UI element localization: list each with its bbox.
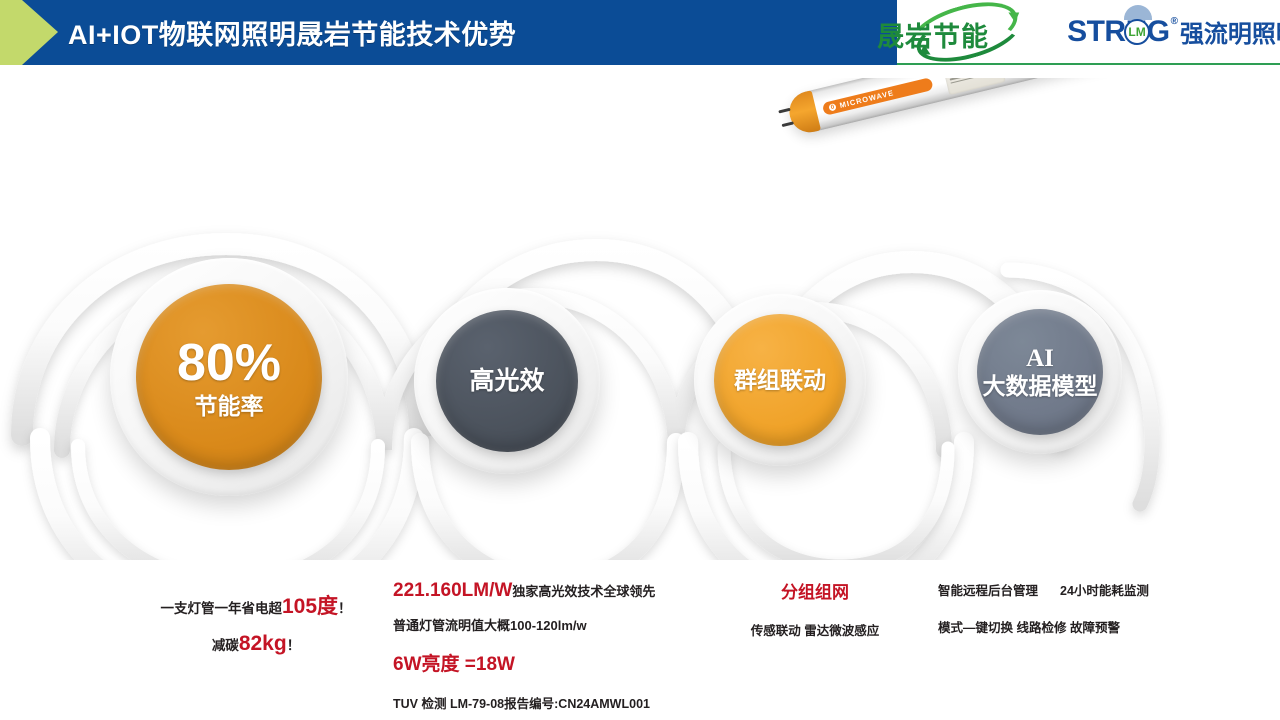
caption-text: 24小时能耗监测 — [1060, 584, 1149, 598]
caption-text: ！ — [287, 638, 301, 653]
sensor-dot-icon: 0 — [828, 103, 836, 111]
node-disc: 80% 节能率 — [136, 284, 322, 470]
microwave-sensor-band: 0 MICROWAVE — [822, 78, 934, 116]
fan-icon — [1124, 5, 1152, 20]
caption-emphasis: 221.160LM/W — [393, 580, 512, 601]
lm-badge-icon: LM — [1124, 19, 1150, 45]
spec-sticker — [942, 78, 1006, 95]
caption-emphasis: 105度 — [282, 595, 338, 618]
caption-emphasis: 6W亮度 =18W — [393, 649, 723, 676]
tube-pin-icon — [782, 121, 794, 127]
brand-wordmark: STRNG — [1067, 15, 1170, 49]
registered-mark: ® — [1171, 16, 1178, 27]
node-label: 群组联动 — [734, 368, 826, 394]
caption-text: 独家高光效技术全球领先 — [512, 584, 655, 599]
caption-line: 减碳82kg！ — [106, 632, 406, 656]
caption-text: ！ — [338, 601, 352, 616]
feature-node-ai-big-data[interactable]: AI 大数据模型 — [958, 290, 1122, 454]
caption-ai-big-data: 智能远程后台管理24小时能耗监测 模式—键切换 线路检修 故障预警 — [938, 580, 1208, 636]
caption-line: TUV 检测 LM-79-08报告编号:CN24AMWL001 — [393, 693, 723, 712]
caption-line: 传感联动 雷达微波感应 — [700, 620, 930, 639]
tube-pin-icon — [778, 108, 790, 114]
led-tube-end-cap — [785, 90, 821, 136]
company-cn-mark: 晟岩节能 — [877, 8, 1059, 56]
node-label-primary: AI — [1026, 345, 1054, 373]
caption-group-linkage: 分组组网 传感联动 雷达微波感应 — [700, 578, 930, 639]
caption-line: 普通灯管流明值大概100-120lm/w — [393, 615, 723, 634]
caption-text: 减碳 — [212, 638, 239, 653]
slide-root: AI+IOT物联网照明晟岩节能技术优势 晟岩节能 STRNG LM ® 强流明照… — [0, 0, 1280, 720]
caption-high-efficacy: 221.160LM/W独家高光效技术全球领先 普通灯管流明值大概100-120l… — [393, 580, 723, 712]
brand-logo: 晟岩节能 STRNG LM ® 强流明照明 — [897, 0, 1280, 65]
caption-energy-saving: 一支灯管一年省电超105度！ 减碳82kg！ — [106, 590, 406, 656]
caption-line: 模式—键切换 线路检修 故障预警 — [938, 617, 1208, 636]
node-metric-label: 节能率 — [195, 394, 264, 420]
chevron-arrow-icon — [0, 0, 58, 65]
feature-node-group-linkage[interactable]: 群组联动 — [694, 294, 866, 466]
sticker-text-line — [950, 78, 997, 80]
feature-node-high-efficacy[interactable]: 高光效 — [414, 288, 600, 474]
led-tube-product-image: 0 MICROWAVE — [760, 78, 1280, 208]
node-disc: 高光效 — [436, 310, 578, 452]
caption-emphasis: 82kg — [239, 632, 287, 655]
caption-text: 智能远程后台管理 — [938, 584, 1038, 598]
brand-cn-name: 强流明照明 — [1180, 14, 1280, 49]
caption-line: 一支灯管一年省电超105度！ — [106, 590, 406, 620]
feature-node-energy-saving[interactable]: 80% 节能率 — [110, 258, 348, 496]
node-disc: 群组联动 — [714, 314, 846, 446]
caption-text: 一支灯管一年省电超 — [160, 601, 282, 616]
caption-emphasis: 分组组网 — [700, 578, 930, 603]
node-metric: 80% — [177, 334, 281, 392]
company-cn-name: 晟岩节能 — [877, 15, 989, 54]
node-disc: AI 大数据模型 — [977, 309, 1103, 435]
caption-line: 221.160LM/W独家高光效技术全球领先 — [393, 580, 723, 602]
page-title: AI+IOT物联网照明晟岩节能技术优势 — [68, 0, 516, 65]
microwave-label: MICROWAVE — [839, 88, 895, 110]
node-label: 高光效 — [469, 367, 544, 395]
led-tube-body: 0 MICROWAVE — [785, 78, 1280, 136]
caption-line: 智能远程后台管理24小时能耗监测 — [938, 580, 1208, 599]
node-label-secondary: 大数据模型 — [983, 374, 1098, 400]
brand-strong-lockup: STRNG LM ® 强流明照明 — [1067, 8, 1280, 56]
sticker-text-line — [950, 78, 985, 84]
